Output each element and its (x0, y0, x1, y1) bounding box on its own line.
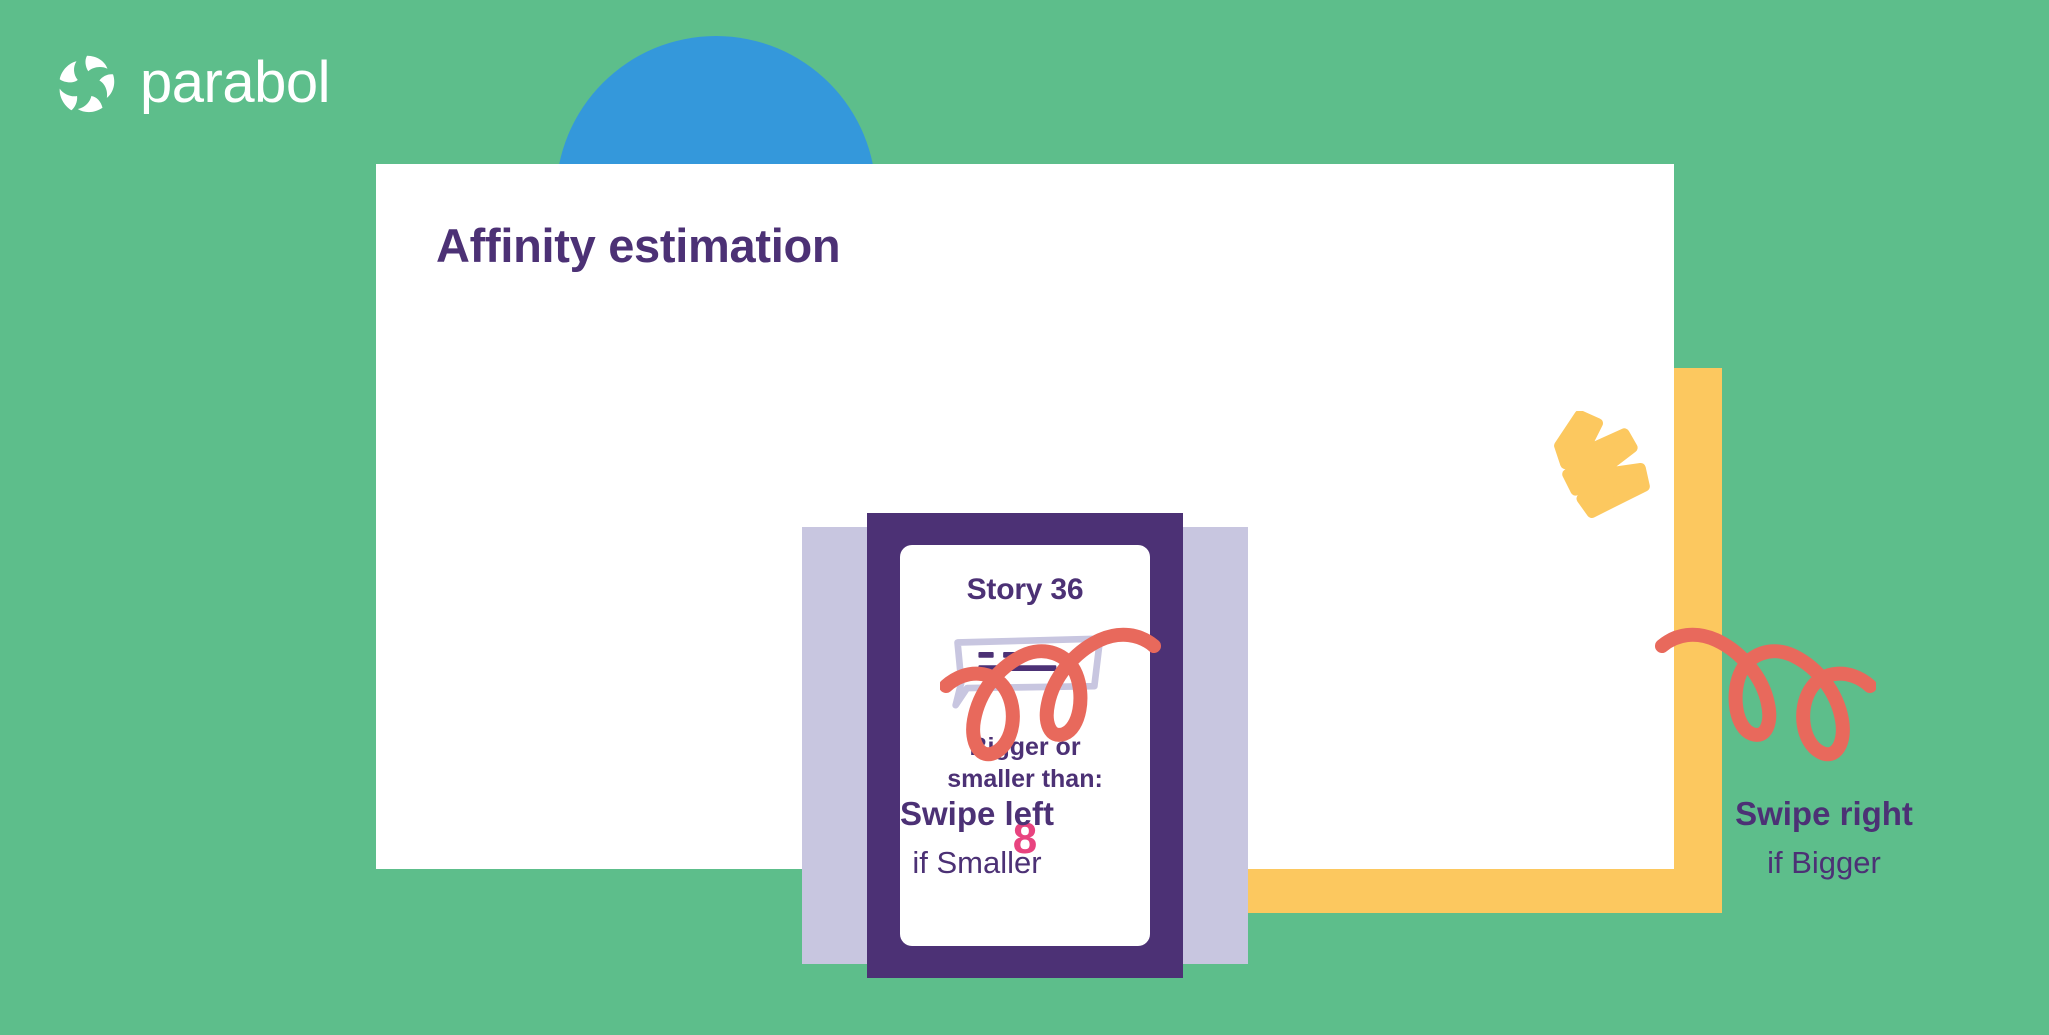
brand-name: parabol (140, 54, 330, 112)
slide-canvas: parabol Affinity estimation Swipe left i… (0, 0, 2049, 1035)
parabol-pinwheel-logo-icon (56, 52, 118, 114)
coral-squiggle-left-icon (940, 582, 1162, 762)
swipe-left-subtitle: if Smaller (812, 844, 1142, 881)
swipe-left-title: Swipe left (812, 794, 1142, 834)
page-title: Affinity estimation (436, 218, 840, 273)
swipe-right-title: Swipe right (1659, 794, 1989, 834)
swipe-left-instruction: Swipe left if Smaller (812, 794, 1142, 881)
content-panel: Affinity estimation Swipe left if Smalle… (376, 164, 1674, 869)
card-stack-left-layer (802, 527, 872, 964)
swipe-right-instruction: Swipe right if Bigger (1659, 794, 1989, 881)
card-stack-right-layer (1178, 527, 1248, 964)
brand-logo: parabol (56, 52, 330, 114)
swipe-right-subtitle: if Bigger (1659, 844, 1989, 881)
lightning-bolt-icon (1553, 411, 1655, 519)
coral-squiggle-right-icon (1654, 582, 1876, 762)
